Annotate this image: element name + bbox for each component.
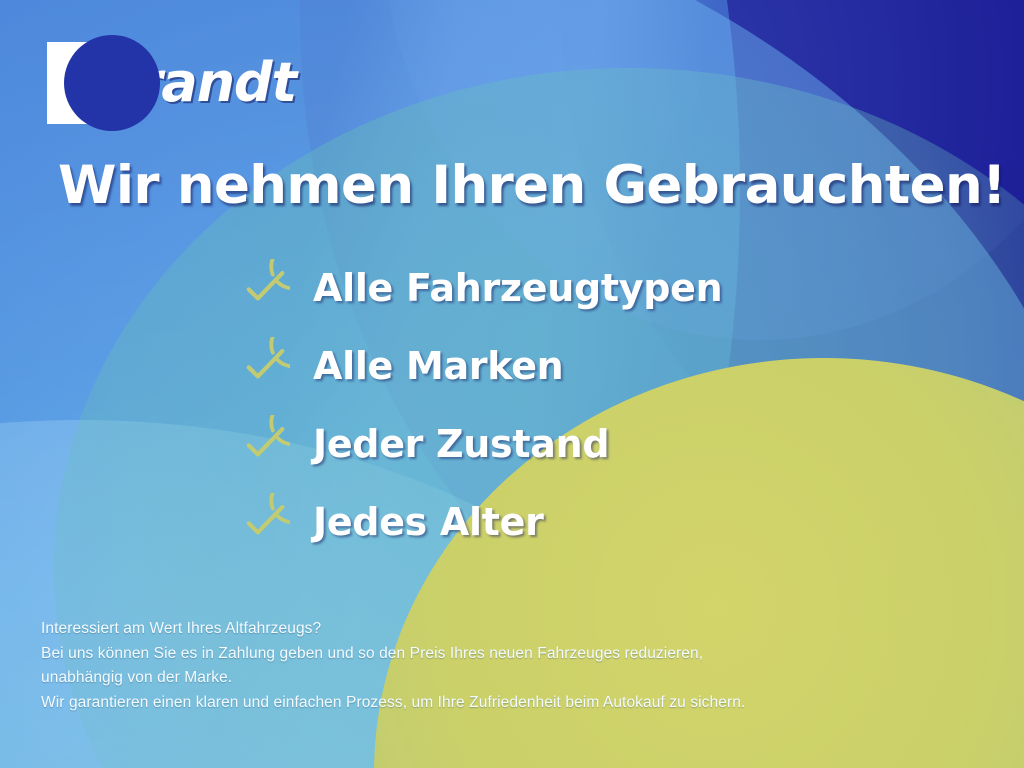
banner-content: Brandt Wir nehmen Ihren Gebrauchten! All… [0, 0, 1024, 768]
check-circle-icon [232, 493, 290, 551]
brand-logo: Brandt [47, 40, 296, 126]
check-circle-icon [232, 337, 290, 395]
footnote-line: Interessiert am Wert Ihres Altfahrzeugs? [41, 617, 941, 642]
list-item: Jedes Alter [232, 492, 722, 551]
footnote-line: Bei uns können Sie es in Zahlung geben u… [41, 642, 941, 667]
feature-list: Alle Fahrzeugtypen Alle Marken Jeder Zus… [232, 258, 722, 551]
footnote-paragraph: Interessiert am Wert Ihres Altfahrzeugs?… [41, 617, 941, 715]
list-item-label: Alle Marken [313, 347, 563, 385]
list-item-label: Jeder Zustand [313, 425, 609, 463]
promo-banner: Brandt Wir nehmen Ihren Gebrauchten! All… [0, 0, 1024, 768]
check-circle-icon [232, 259, 290, 317]
check-circle-icon [232, 415, 290, 473]
page-title: Wir nehmen Ihren Gebrauchten! [58, 158, 978, 214]
list-item-label: Jedes Alter [313, 503, 544, 541]
footnote-line: unabhängig von der Marke. [41, 666, 941, 691]
list-item: Alle Marken [232, 336, 722, 395]
brandt-bracket-mark-icon [47, 42, 88, 124]
footnote-line: Wir garantieren einen klaren und einfach… [41, 691, 941, 716]
list-item: Alle Fahrzeugtypen [232, 258, 722, 317]
list-item-label: Alle Fahrzeugtypen [313, 269, 722, 307]
list-item: Jeder Zustand [232, 414, 722, 473]
